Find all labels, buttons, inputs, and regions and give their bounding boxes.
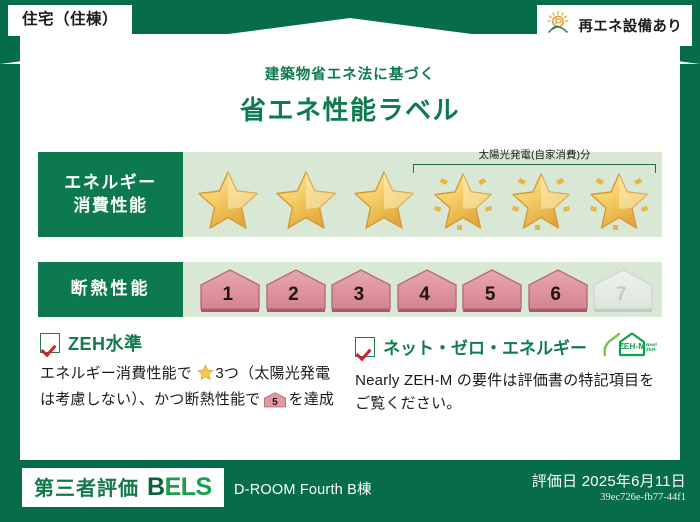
house-type-tag: 住宅（住棟）	[8, 5, 132, 36]
insulation-performance-row: 断熱性能	[38, 262, 662, 317]
svg-text:5: 5	[272, 397, 278, 408]
insulation-level-list: 1 2 3	[197, 266, 652, 314]
energy-performance-row: エネルギー 消費性能 太陽光発電(自家消費)分	[38, 152, 662, 237]
check-icon	[40, 333, 60, 353]
zeh-m-logo-icon: ZEH-M Nearly ZEH-M	[601, 330, 657, 363]
evaluation-id: 39ec726e-fb77-44f1	[600, 492, 686, 503]
star-icon-solar	[504, 166, 578, 236]
renewable-badge-label: 再エネ設備あり	[578, 15, 682, 36]
sun-renewable-icon	[545, 10, 571, 41]
check-icon	[355, 337, 375, 357]
insulation-level-item: 1	[197, 267, 259, 313]
star-icon	[269, 166, 343, 236]
renewable-energy-badge: 再エネ設備あり	[537, 5, 692, 46]
energy-stars-panel: 太陽光発電(自家消費)分	[183, 152, 662, 237]
net-zero-energy-block: ネット・ゼロ・エネルギー ZEH-M Nearly ZEH-M Nearly Z…	[355, 330, 664, 417]
bels-logo: BELS	[147, 473, 212, 502]
zeh-standard-title: ZEH水準	[68, 330, 143, 356]
criteria-blocks: ZEH水準 エネルギー消費性能で 3つ（太陽光発電 は考慮しない）、かつ断熱性能…	[40, 330, 664, 417]
building-name: D-ROOM Fourth B棟	[234, 478, 372, 499]
insulation-level-item: 2	[263, 267, 325, 313]
star-icon	[347, 166, 421, 236]
solar-annotation-label: 太陽光発電(自家消費)分	[413, 150, 656, 161]
insulation-level-item: 3	[328, 267, 390, 313]
insulation-level-item-inactive: 7	[590, 267, 652, 313]
star-rating	[191, 166, 656, 235]
inline-star-icon	[193, 368, 214, 385]
net-zero-title: ネット・ゼロ・エネルギー	[383, 334, 587, 359]
evaluation-date: 評価日 2025年6月11日	[532, 470, 686, 491]
insulation-level-item: 5	[459, 267, 521, 313]
net-zero-header: ネット・ゼロ・エネルギー ZEH-M Nearly ZEH-M	[355, 330, 664, 363]
svg-text:ZEH-M: ZEH-M	[646, 347, 657, 352]
insulation-row-label: 断熱性能	[38, 262, 183, 317]
title-block: 建築物省エネ法に基づく 省エネ性能ラベル	[20, 63, 680, 127]
zeh-standard-header: ZEH水準	[40, 330, 337, 356]
label-card: 建築物省エネ法に基づく 省エネ性能ラベル エネルギー 消費性能 太陽光発電(自家…	[20, 34, 680, 462]
third-party-eval-label: 第三者評価	[34, 472, 139, 501]
star-icon-solar	[426, 166, 500, 236]
net-zero-description: Nearly ZEH-M の要件は評価書の特記項目をご覧ください。	[355, 370, 664, 416]
inline-house-badge: 5	[263, 391, 287, 417]
insulation-level-item: 6	[525, 267, 587, 313]
zeh-standard-description: エネルギー消費性能で 3つ（太陽光発電 は考慮しない）、かつ断熱性能で 5 を達…	[40, 363, 337, 417]
star-icon	[191, 166, 265, 236]
page-title: 省エネ性能ラベル	[20, 90, 680, 127]
footer-bar: 第三者評価 BELS D-ROOM Fourth B棟 評価日 2025年6月1…	[0, 460, 700, 522]
insulation-levels-panel: 1 2 3	[183, 262, 662, 317]
label-subtitle: 建築物省エネ法に基づく	[20, 63, 680, 84]
bels-badge: 第三者評価 BELS	[22, 468, 224, 507]
star-icon-solar	[582, 166, 656, 236]
energy-row-label: エネルギー 消費性能	[38, 152, 183, 237]
zeh-standard-block: ZEH水準 エネルギー消費性能で 3つ（太陽光発電 は考慮しない）、かつ断熱性能…	[40, 330, 337, 417]
svg-text:ZEH-M: ZEH-M	[619, 341, 646, 351]
insulation-level-item: 4	[394, 267, 456, 313]
